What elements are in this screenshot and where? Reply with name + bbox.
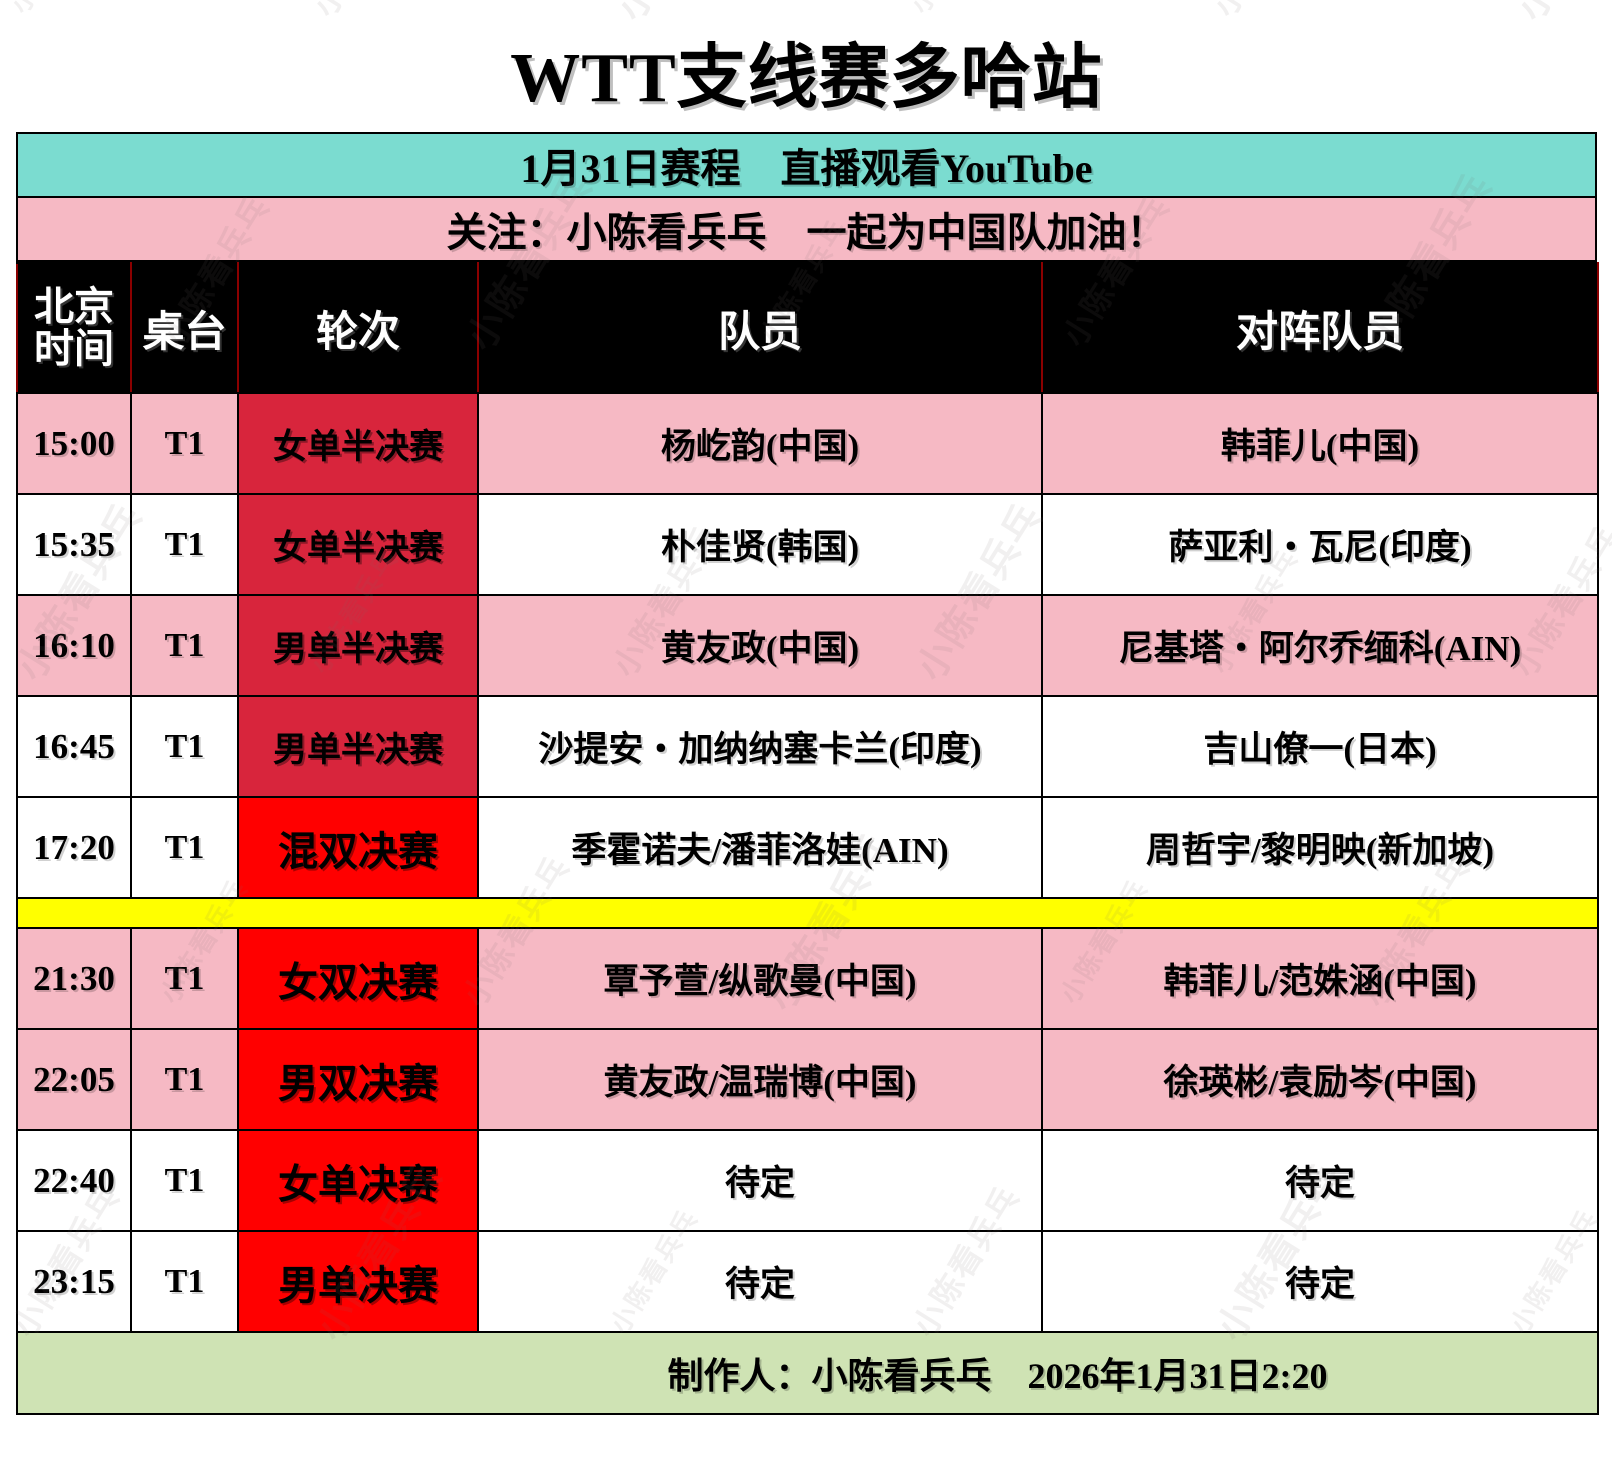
cell-player: 沙提安・加纳纳塞卡兰(印度) <box>478 696 1042 797</box>
cell-time: 15:00 <box>17 393 131 494</box>
cell-round: 混双决赛 <box>238 797 478 898</box>
cell-table: T1 <box>131 1231 238 1332</box>
page-title: WTT支线赛多哈站 <box>510 21 1102 122</box>
column-header-round: 轮次 <box>238 263 478 393</box>
follow-banner-text: 关注：小陈看兵乓 一起为中国队加油！ <box>447 200 1167 258</box>
table-row: 22:05 T1 男双决赛 黄友政/温瑞博(中国) 徐瑛彬/袁励岑(中国) <box>17 1029 1598 1130</box>
poster-title-band: WTT支线赛多哈站 <box>16 10 1597 132</box>
cell-round: 女双决赛 <box>238 928 478 1029</box>
cell-player: 黄友政/温瑞博(中国) <box>478 1029 1042 1130</box>
cell-table: T1 <box>131 1130 238 1231</box>
cell-opponent: 待定 <box>1042 1231 1598 1332</box>
table-row: 22:40 T1 女单决赛 待定 待定 <box>17 1130 1598 1231</box>
cell-table: T1 <box>131 928 238 1029</box>
cell-round: 女单半决赛 <box>238 494 478 595</box>
cell-time: 22:05 <box>17 1029 131 1130</box>
cell-player: 待定 <box>478 1231 1042 1332</box>
cell-time: 22:40 <box>17 1130 131 1231</box>
cell-time: 17:20 <box>17 797 131 898</box>
column-header-time: 北京时间 <box>17 263 131 393</box>
table-row: 21:30 T1 女双决赛 覃予萱/纵歌曼(中国) 韩菲儿/范姝涵(中国) <box>17 928 1598 1029</box>
match-schedule-table: 北京时间 桌台 轮次 队员 对阵队员 15:00 T1 女单半决赛 杨屹韵(中国… <box>16 262 1599 1415</box>
cell-table: T1 <box>131 1029 238 1130</box>
session-separator-bar <box>17 898 1598 928</box>
cell-opponent: 徐瑛彬/袁励岑(中国) <box>1042 1029 1598 1130</box>
schedule-poster: WTT支线赛多哈站 1月31日赛程 直播观看YouTube 关注：小陈看兵乓 一… <box>0 0 1612 1468</box>
table-row: 15:00 T1 女单半决赛 杨屹韵(中国) 韩菲儿(中国) <box>17 393 1598 494</box>
cell-table: T1 <box>131 797 238 898</box>
footer-row: 制作人：小陈看兵乓 2026年1月31日2:20 <box>17 1332 1598 1414</box>
cell-table: T1 <box>131 494 238 595</box>
cell-player: 黄友政(中国) <box>478 595 1042 696</box>
cell-opponent: 吉山僚一(日本) <box>1042 696 1598 797</box>
cell-player: 覃予萱/纵歌曼(中国) <box>478 928 1042 1029</box>
cell-table: T1 <box>131 696 238 797</box>
column-header-table: 桌台 <box>131 263 238 393</box>
cell-opponent: 待定 <box>1042 1130 1598 1231</box>
cell-time: 15:35 <box>17 494 131 595</box>
column-header-opponent: 对阵队员 <box>1042 263 1598 393</box>
schedule-banner-text: 1月31日赛程 直播观看YouTube <box>521 136 1093 194</box>
table-row: 23:15 T1 男单决赛 待定 待定 <box>17 1231 1598 1332</box>
cell-opponent: 韩菲儿(中国) <box>1042 393 1598 494</box>
cell-opponent: 韩菲儿/范姝涵(中国) <box>1042 928 1598 1029</box>
follow-banner: 关注：小陈看兵乓 一起为中国队加油！ <box>16 198 1597 262</box>
session-separator <box>17 898 1598 928</box>
table-row: 16:10 T1 男单半决赛 黄友政(中国) 尼基塔・阿尔乔缅科(AIN) <box>17 595 1598 696</box>
table-header-row: 北京时间 桌台 轮次 队员 对阵队员 <box>17 263 1598 393</box>
cell-time: 21:30 <box>17 928 131 1029</box>
column-header-player: 队员 <box>478 263 1042 393</box>
cell-table: T1 <box>131 393 238 494</box>
cell-round: 男单半决赛 <box>238 595 478 696</box>
cell-player: 朴佳贤(韩国) <box>478 494 1042 595</box>
cell-round: 男双决赛 <box>238 1029 478 1130</box>
cell-opponent: 萨亚利・瓦尼(印度) <box>1042 494 1598 595</box>
schedule-banner: 1月31日赛程 直播观看YouTube <box>16 132 1597 198</box>
footer-credit-cell: 制作人：小陈看兵乓 2026年1月31日2:20 <box>17 1332 1598 1414</box>
cell-round: 女单半决赛 <box>238 393 478 494</box>
table-row: 17:20 T1 混双决赛 季霍诺夫/潘菲洛娃(AIN) 周哲宇/黎明映(新加坡… <box>17 797 1598 898</box>
cell-player: 季霍诺夫/潘菲洛娃(AIN) <box>478 797 1042 898</box>
table-row: 16:45 T1 男单半决赛 沙提安・加纳纳塞卡兰(印度) 吉山僚一(日本) <box>17 696 1598 797</box>
table-row: 15:35 T1 女单半决赛 朴佳贤(韩国) 萨亚利・瓦尼(印度) <box>17 494 1598 595</box>
cell-time: 16:10 <box>17 595 131 696</box>
cell-opponent: 周哲宇/黎明映(新加坡) <box>1042 797 1598 898</box>
cell-player: 杨屹韵(中国) <box>478 393 1042 494</box>
cell-table: T1 <box>131 595 238 696</box>
cell-player: 待定 <box>478 1130 1042 1231</box>
cell-opponent: 尼基塔・阿尔乔缅科(AIN) <box>1042 595 1598 696</box>
footer-credit-text: 制作人：小陈看兵乓 2026年1月31日2:20 <box>18 1347 1597 1399</box>
cell-round: 男单半决赛 <box>238 696 478 797</box>
cell-round: 男单决赛 <box>238 1231 478 1332</box>
cell-round: 女单决赛 <box>238 1130 478 1231</box>
cell-time: 16:45 <box>17 696 131 797</box>
cell-time: 23:15 <box>17 1231 131 1332</box>
